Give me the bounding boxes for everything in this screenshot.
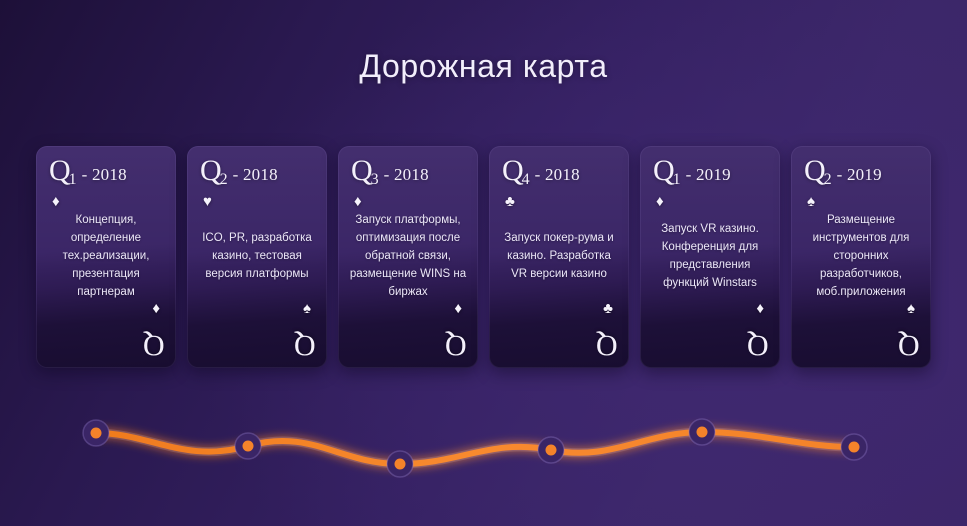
- quarter-year: - 2018: [82, 165, 127, 184]
- diamond-suit-icon: ♦: [52, 194, 60, 209]
- page-title: Дорожная карта: [0, 48, 967, 85]
- roadmap-card-row: Q1- 2018 ♦ Концепция, определение тех.ре…: [36, 146, 931, 368]
- roadmap-card-q3-2018[interactable]: Q3- 2018 ♦ Запуск платформы, оптимизация…: [338, 146, 478, 368]
- roadmap-card-q1-2018[interactable]: Q1- 2018 ♦ Концепция, определение тех.ре…: [36, 146, 176, 368]
- card-heading: Q3- 2018: [351, 156, 429, 189]
- card-description: Концепция, определение тех.реализации, п…: [45, 208, 167, 306]
- card-heading: Q4- 2018: [502, 156, 580, 189]
- roadmap-card-q2-2018[interactable]: Q2- 2018 ♥ ICO, PR, разработка казино, т…: [187, 146, 327, 368]
- quarter-index: 2: [824, 171, 832, 188]
- quarter-index: 1: [69, 171, 77, 188]
- timeline-node[interactable]: [689, 419, 715, 445]
- timeline-wave: [0, 392, 967, 502]
- quarter-year: - 2019: [686, 165, 731, 184]
- quarter-letter: Q: [502, 154, 524, 187]
- timeline-node[interactable]: [387, 451, 413, 477]
- quarter-letter: Q: [351, 154, 373, 187]
- card-description: Запуск платформы, оптимизация после обра…: [347, 208, 469, 306]
- roadmap-card-q2-2019[interactable]: Q2- 2019 ♠ Размещение инструментов для с…: [791, 146, 931, 368]
- quarter-year: - 2018: [535, 165, 580, 184]
- diamond-suit-icon: ♦: [454, 301, 462, 316]
- quarter-index: 4: [522, 171, 530, 188]
- card-description: Размещение инструментов для сторонних ра…: [800, 208, 922, 306]
- corner-quarter-letter: Q: [747, 330, 769, 360]
- corner-quarter-letter: Q: [143, 330, 165, 360]
- card-description: Запуск покер-рума и казино. Разработка V…: [498, 208, 620, 306]
- card-heading: Q2- 2018: [200, 156, 278, 189]
- quarter-index: 2: [220, 171, 228, 188]
- quarter-letter: Q: [49, 154, 71, 187]
- heart-suit-icon: ♥: [203, 194, 212, 209]
- quarter-index: 1: [673, 171, 681, 188]
- corner-quarter-letter: Q: [294, 330, 316, 360]
- diamond-suit-icon: ♦: [354, 194, 362, 209]
- quarter-index: 3: [371, 171, 379, 188]
- corner-quarter-letter: Q: [596, 330, 618, 360]
- card-description: ICO, PR, разработка казино, тестовая вер…: [196, 208, 318, 306]
- spade-suit-icon: ♠: [807, 194, 815, 209]
- corner-quarter-letter: Q: [445, 330, 467, 360]
- roadmap-card-q1-2019[interactable]: Q1- 2019 ♦ Запуск VR казино. Конференция…: [640, 146, 780, 368]
- corner-quarter-letter: Q: [898, 330, 920, 360]
- diamond-suit-icon: ♦: [152, 301, 160, 316]
- card-heading: Q1- 2019: [653, 156, 731, 189]
- timeline-node[interactable]: [83, 420, 109, 446]
- quarter-letter: Q: [804, 154, 826, 187]
- card-heading: Q2- 2019: [804, 156, 882, 189]
- card-heading: Q1- 2018: [49, 156, 127, 189]
- timeline-node[interactable]: [841, 434, 867, 460]
- timeline-wave-svg: [0, 392, 967, 502]
- club-suit-icon: ♣: [505, 194, 515, 209]
- quarter-letter: Q: [200, 154, 222, 187]
- quarter-letter: Q: [653, 154, 675, 187]
- spade-suit-icon: ♠: [907, 301, 915, 316]
- diamond-suit-icon: ♦: [756, 301, 764, 316]
- timeline-node[interactable]: [235, 433, 261, 459]
- spade-suit-icon: ♠: [303, 301, 311, 316]
- quarter-year: - 2018: [384, 165, 429, 184]
- card-description: Запуск VR казино. Конференция для предст…: [649, 208, 771, 306]
- roadmap-card-q4-2018[interactable]: Q4- 2018 ♣ Запуск покер-рума и казино. Р…: [489, 146, 629, 368]
- club-suit-icon: ♣: [603, 301, 613, 316]
- timeline-node[interactable]: [538, 437, 564, 463]
- quarter-year: - 2018: [233, 165, 278, 184]
- roadmap-slide: Дорожная карта Q1- 2018 ♦ Концепция, опр…: [0, 0, 967, 526]
- diamond-suit-icon: ♦: [656, 194, 664, 209]
- quarter-year: - 2019: [837, 165, 882, 184]
